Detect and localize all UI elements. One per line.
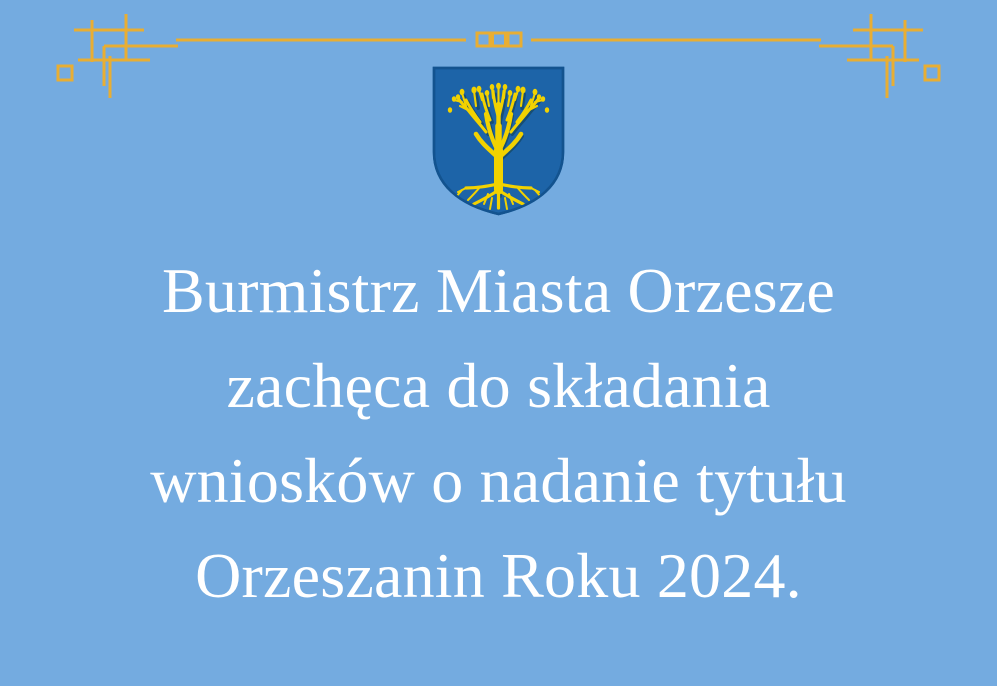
corner-ornament-right [819,14,939,98]
headline-line-3: wniosków o nadanie tytułu [0,433,997,528]
poster-canvas: Burmistrz Miasta Orzesze zachęca do skła… [0,0,997,686]
headline-line-4: Orzeszanin Roku 2024. [0,528,997,623]
coat-of-arms-orzesze [432,66,565,216]
corner-ornament-left [58,14,178,98]
announcement-headline: Burmistrz Miasta Orzesze zachęca do skła… [0,243,997,623]
header-divider-dots [477,33,521,46]
headline-line-1: Burmistrz Miasta Orzesze [0,243,997,338]
headline-line-2: zachęca do składania [0,338,997,433]
